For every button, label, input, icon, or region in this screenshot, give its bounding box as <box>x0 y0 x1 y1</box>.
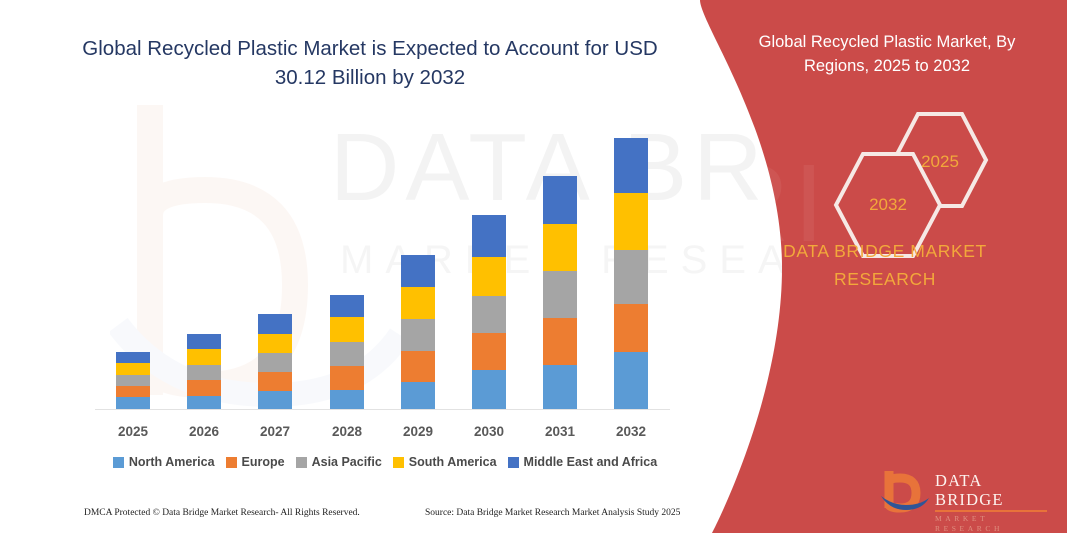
bar-2031 <box>543 0 577 409</box>
right-panel-brand-line2: RESEARCH <box>740 265 1030 293</box>
bar-segment-north-america <box>614 352 648 409</box>
bar-2030 <box>472 0 506 409</box>
bar-2025 <box>116 0 150 409</box>
bar-2029 <box>401 0 435 409</box>
bar-segment-europe <box>258 372 292 391</box>
right-panel-title: Global Recycled Plastic Market, By Regio… <box>742 30 1032 78</box>
stacked-bar-chart: 20252026202720282029203020312032 <box>0 0 700 460</box>
dbmr-logo-main: DATA BRIDGE <box>935 471 1055 509</box>
legend-swatch-icon <box>113 457 124 468</box>
bar-segment-south-america <box>472 257 506 296</box>
bar-segment-north-america <box>187 396 221 409</box>
bar-segment-south-america <box>187 349 221 365</box>
bar-segment-middle-east-and-africa <box>258 314 292 334</box>
bar-segment-europe <box>187 380 221 396</box>
legend-item-middle-east-and-africa[interactable]: Middle East and Africa <box>508 455 658 469</box>
bar-segment-asia-pacific <box>401 319 435 351</box>
x-axis-label-2026: 2026 <box>164 424 244 439</box>
legend-swatch-icon <box>226 457 237 468</box>
legend-swatch-icon <box>296 457 307 468</box>
bar-segment-europe <box>116 386 150 397</box>
bar-segment-asia-pacific <box>330 342 364 366</box>
dbmr-logo-mark-icon <box>880 468 932 514</box>
hexagon-group: 2025 2032 <box>700 110 1067 220</box>
dbmr-logo-text: DATA BRIDGE MARKET RESEARCH <box>935 471 1055 533</box>
legend-item-north-america[interactable]: North America <box>113 455 215 469</box>
bar-segment-middle-east-and-africa <box>543 176 577 224</box>
bar-segment-middle-east-and-africa <box>614 138 648 193</box>
bar-2026 <box>187 0 221 409</box>
bar-2028 <box>330 0 364 409</box>
bar-segment-asia-pacific <box>116 375 150 386</box>
bar-segment-south-america <box>614 193 648 250</box>
legend-label: North America <box>129 455 215 469</box>
bar-segment-asia-pacific <box>614 250 648 304</box>
bar-segment-north-america <box>116 397 150 409</box>
bar-segment-south-america <box>401 287 435 319</box>
dbmr-logo-sub: MARKET RESEARCH <box>935 514 1055 533</box>
bar-segment-asia-pacific <box>187 365 221 380</box>
x-axis-label-2027: 2027 <box>235 424 315 439</box>
bar-segment-south-america <box>330 317 364 342</box>
legend-label: Middle East and Africa <box>524 455 658 469</box>
right-panel-content: RI Global Recycled Plastic Market, By Re… <box>700 0 1067 533</box>
legend-item-europe[interactable]: Europe <box>226 455 285 469</box>
bar-segment-europe <box>401 351 435 382</box>
legend-item-south-america[interactable]: South America <box>393 455 497 469</box>
bar-segment-south-america <box>258 334 292 353</box>
legend-swatch-icon <box>508 457 519 468</box>
hexagon-2032-label: 2032 <box>830 195 946 215</box>
bar-segment-middle-east-and-africa <box>330 295 364 317</box>
bar-segment-south-america <box>543 224 577 271</box>
footer-copyright: DMCA Protected © Data Bridge Market Rese… <box>84 508 360 518</box>
chart-baseline <box>95 409 670 410</box>
bar-segment-north-america <box>258 391 292 409</box>
bar-segment-europe <box>614 304 648 352</box>
bar-segment-south-america <box>116 363 150 375</box>
bar-2027 <box>258 0 292 409</box>
bar-segment-middle-east-and-africa <box>116 352 150 363</box>
bar-segment-north-america <box>330 390 364 409</box>
dbmr-logo-rule <box>935 510 1047 512</box>
bar-segment-middle-east-and-africa <box>401 255 435 287</box>
bar-segment-europe <box>543 318 577 365</box>
right-panel-brand: DATA BRIDGE MARKET RESEARCH <box>740 237 1030 293</box>
footer-source: Source: Data Bridge Market Research Mark… <box>425 508 680 518</box>
bar-segment-north-america <box>401 382 435 409</box>
right-panel-brand-line1: DATA BRIDGE MARKET <box>740 237 1030 265</box>
x-axis-label-2032: 2032 <box>591 424 671 439</box>
infographic-root: DATA BRIDGE MARKET RESEARCH Global Recyc… <box>0 0 1067 533</box>
legend-label: Europe <box>242 455 285 469</box>
legend-item-asia-pacific[interactable]: Asia Pacific <box>296 455 382 469</box>
x-axis-label-2029: 2029 <box>378 424 458 439</box>
bar-segment-north-america <box>543 365 577 409</box>
legend-label: South America <box>409 455 497 469</box>
legend-label: Asia Pacific <box>312 455 382 469</box>
bar-segment-asia-pacific <box>543 271 577 318</box>
bar-segment-middle-east-and-africa <box>187 334 221 349</box>
x-axis-label-2028: 2028 <box>307 424 387 439</box>
hexagon-2025-label: 2025 <box>888 152 992 172</box>
x-axis-label-2025: 2025 <box>93 424 173 439</box>
bar-segment-north-america <box>472 370 506 409</box>
bar-2032 <box>614 0 648 409</box>
dbmr-logo: DATA BRIDGE MARKET RESEARCH <box>880 468 1055 514</box>
chart-legend: North AmericaEuropeAsia PacificSouth Ame… <box>95 455 675 469</box>
bar-segment-europe <box>330 366 364 390</box>
x-axis-label-2030: 2030 <box>449 424 529 439</box>
footer: DMCA Protected © Data Bridge Market Rese… <box>0 505 700 529</box>
bar-segment-middle-east-and-africa <box>472 215 506 257</box>
bar-segment-asia-pacific <box>472 296 506 333</box>
legend-swatch-icon <box>393 457 404 468</box>
bar-segment-asia-pacific <box>258 353 292 372</box>
bar-segment-europe <box>472 333 506 370</box>
x-axis-label-2031: 2031 <box>520 424 600 439</box>
